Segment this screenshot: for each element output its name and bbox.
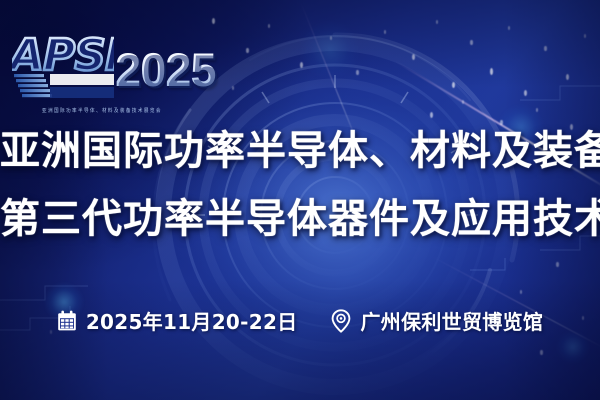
event-date: 2025年11月20-22日 xyxy=(57,306,298,335)
logo-year: 2025 xyxy=(115,46,216,93)
location-pin-icon xyxy=(331,309,351,333)
apsme-logo: APSME 2025 亚洲国际功率半导体、材料及装备技术展览会 xyxy=(12,24,202,96)
event-info-bar: 2025年11月20-22日 广州保利世贸博览馆 xyxy=(0,306,600,335)
event-venue-text: 广州保利世贸博览馆 xyxy=(360,306,543,335)
event-date-text: 2025年11月20-22日 xyxy=(86,306,298,335)
apsme-wordmark-icon: APSME xyxy=(12,24,114,104)
event-title-line-2: 第三代功率半导体器件及应用技术展览会 xyxy=(0,196,600,243)
logo-subtitle: 亚洲国际功率半导体、材料及装备技术展览会 xyxy=(42,108,162,115)
event-title-line-1: 亚洲国际功率半导体、材料及装备技术展览会 xyxy=(0,128,600,175)
calendar-icon xyxy=(57,310,77,331)
svg-text:APSME: APSME xyxy=(12,30,114,81)
event-venue: 广州保利世贸博览馆 xyxy=(331,306,543,335)
event-banner: APSME 2025 亚洲国际功率半导体、材料及装备技术展览会 亚洲国际功率半导… xyxy=(0,0,600,400)
